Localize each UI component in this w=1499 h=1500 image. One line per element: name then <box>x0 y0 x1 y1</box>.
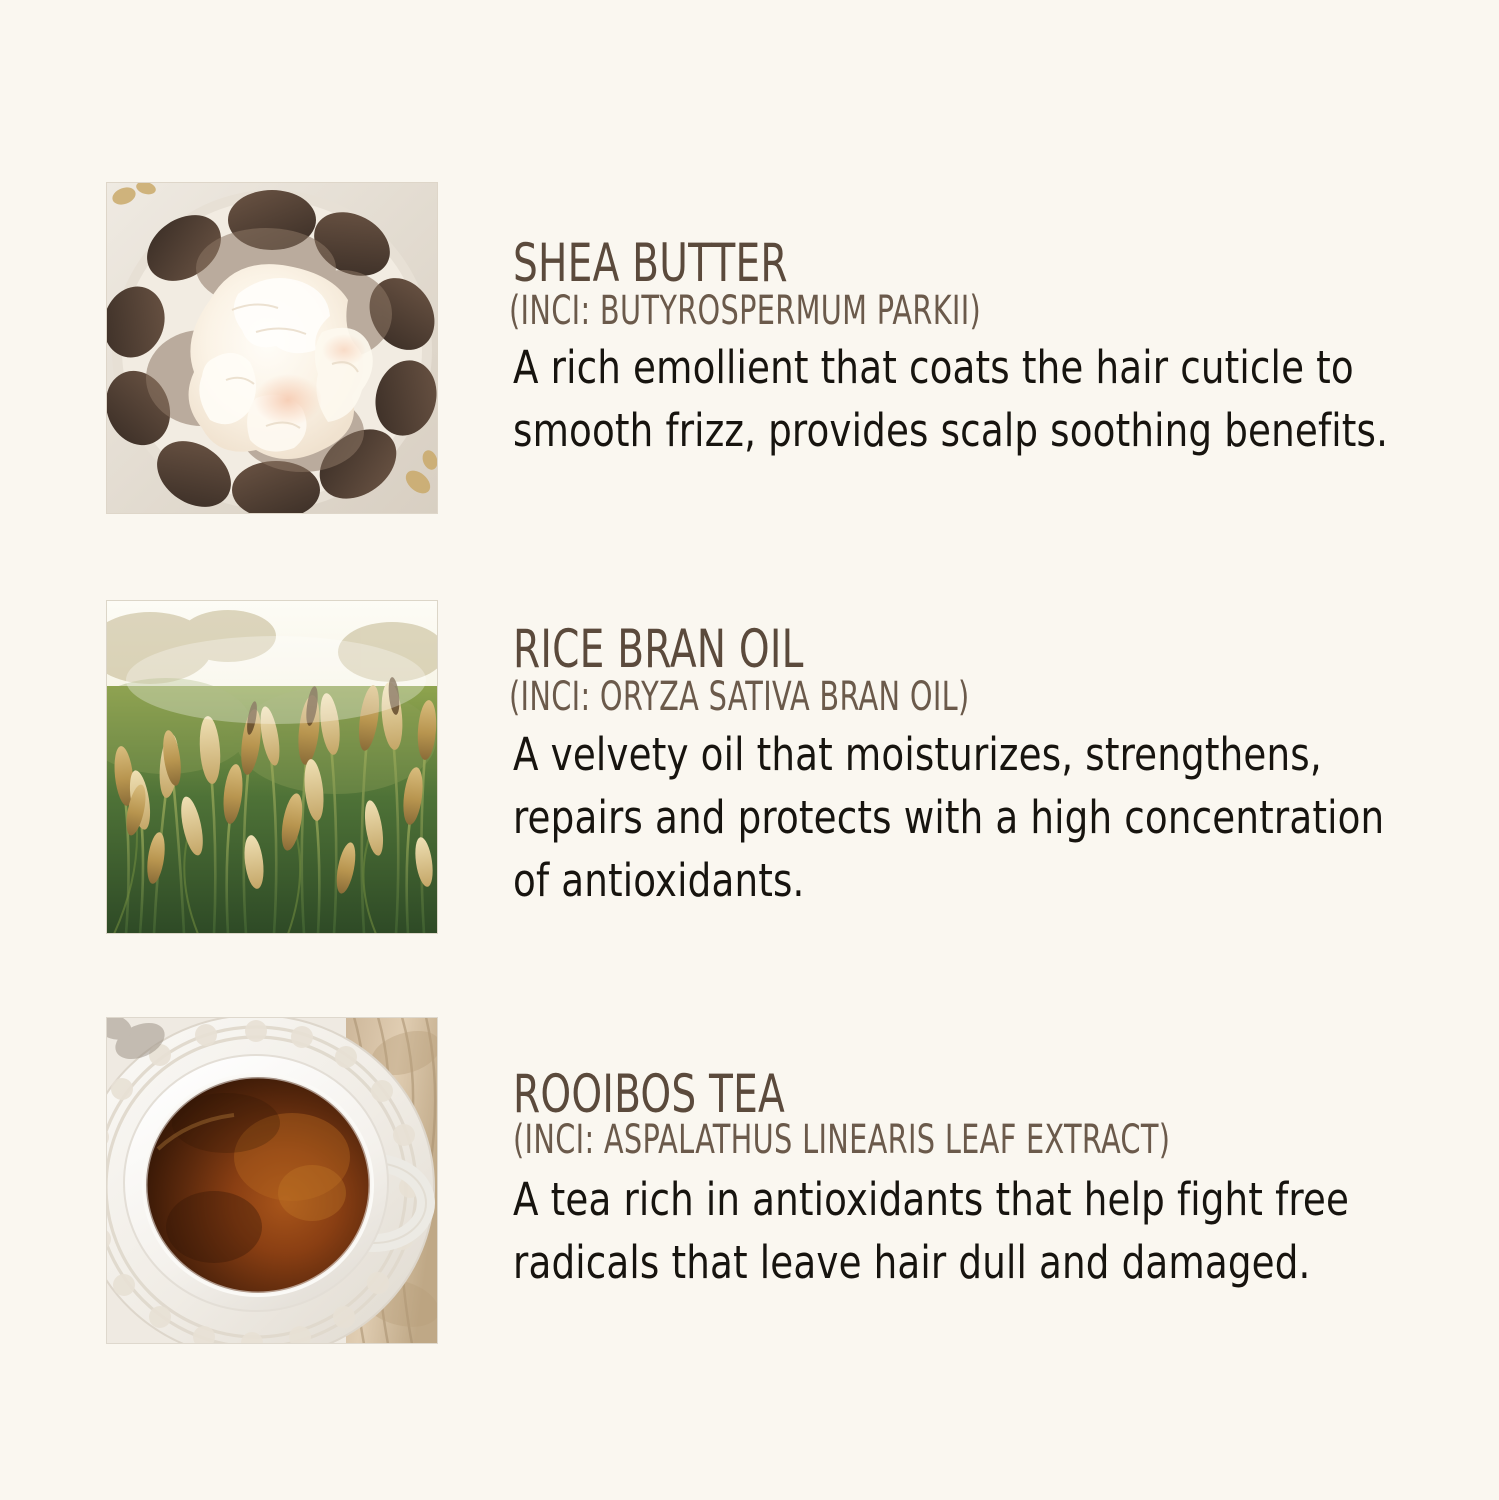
ingredient-description: A velvety oil that moisturizes, strength… <box>513 723 1410 912</box>
ingredient-description: A rich emollient that coats the hair cut… <box>513 336 1410 462</box>
rooibos-tea-photo <box>106 1017 438 1344</box>
ingredient-copy: RICE BRAN OIL(INCI: ORYZA SATIVA BRAN OI… <box>513 622 1416 912</box>
ingredient-name: SHEA BUTTER <box>513 236 788 291</box>
ingredient-name: ROOIBOS TEA <box>513 1067 785 1122</box>
ingredient-heading: RICE BRAN OIL(INCI: ORYZA SATIVA BRAN OI… <box>513 622 1416 719</box>
ingredient-block-shea-butter: SHEA BUTTER(INCI: BUTYROSPERMUM PARKII) … <box>106 182 1416 514</box>
ingredient-description: A tea rich in antioxidants that help fig… <box>513 1168 1410 1294</box>
shea-butter-photo <box>106 182 438 514</box>
ingredient-inci: (INCI: BUTYROSPERMUM PARKII) <box>509 291 981 333</box>
ingredient-inci: (INCI: ASPALATHUS LINEARIS LEAF EXTRACT) <box>513 1120 1235 1162</box>
ingredient-copy: ROOIBOS TEA (INCI: ASPALATHUS LINEARIS L… <box>513 1067 1416 1294</box>
ingredient-heading: ROOIBOS TEA (INCI: ASPALATHUS LINEARIS L… <box>513 1067 1416 1162</box>
rice-field-photo <box>106 600 438 934</box>
ingredient-heading: SHEA BUTTER(INCI: BUTYROSPERMUM PARKII) <box>513 236 1416 333</box>
ingredient-block-rice-bran-oil: RICE BRAN OIL(INCI: ORYZA SATIVA BRAN OI… <box>106 600 1416 934</box>
ingredient-name: RICE BRAN OIL <box>513 622 804 677</box>
ingredient-block-rooibos-tea: ROOIBOS TEA (INCI: ASPALATHUS LINEARIS L… <box>106 1017 1416 1344</box>
ingredient-copy: SHEA BUTTER(INCI: BUTYROSPERMUM PARKII) … <box>513 236 1416 463</box>
ingredient-inci: (INCI: ORYZA SATIVA BRAN OIL) <box>509 677 970 719</box>
ingredient-infographic: SHEA BUTTER(INCI: BUTYROSPERMUM PARKII) … <box>0 0 1499 1500</box>
